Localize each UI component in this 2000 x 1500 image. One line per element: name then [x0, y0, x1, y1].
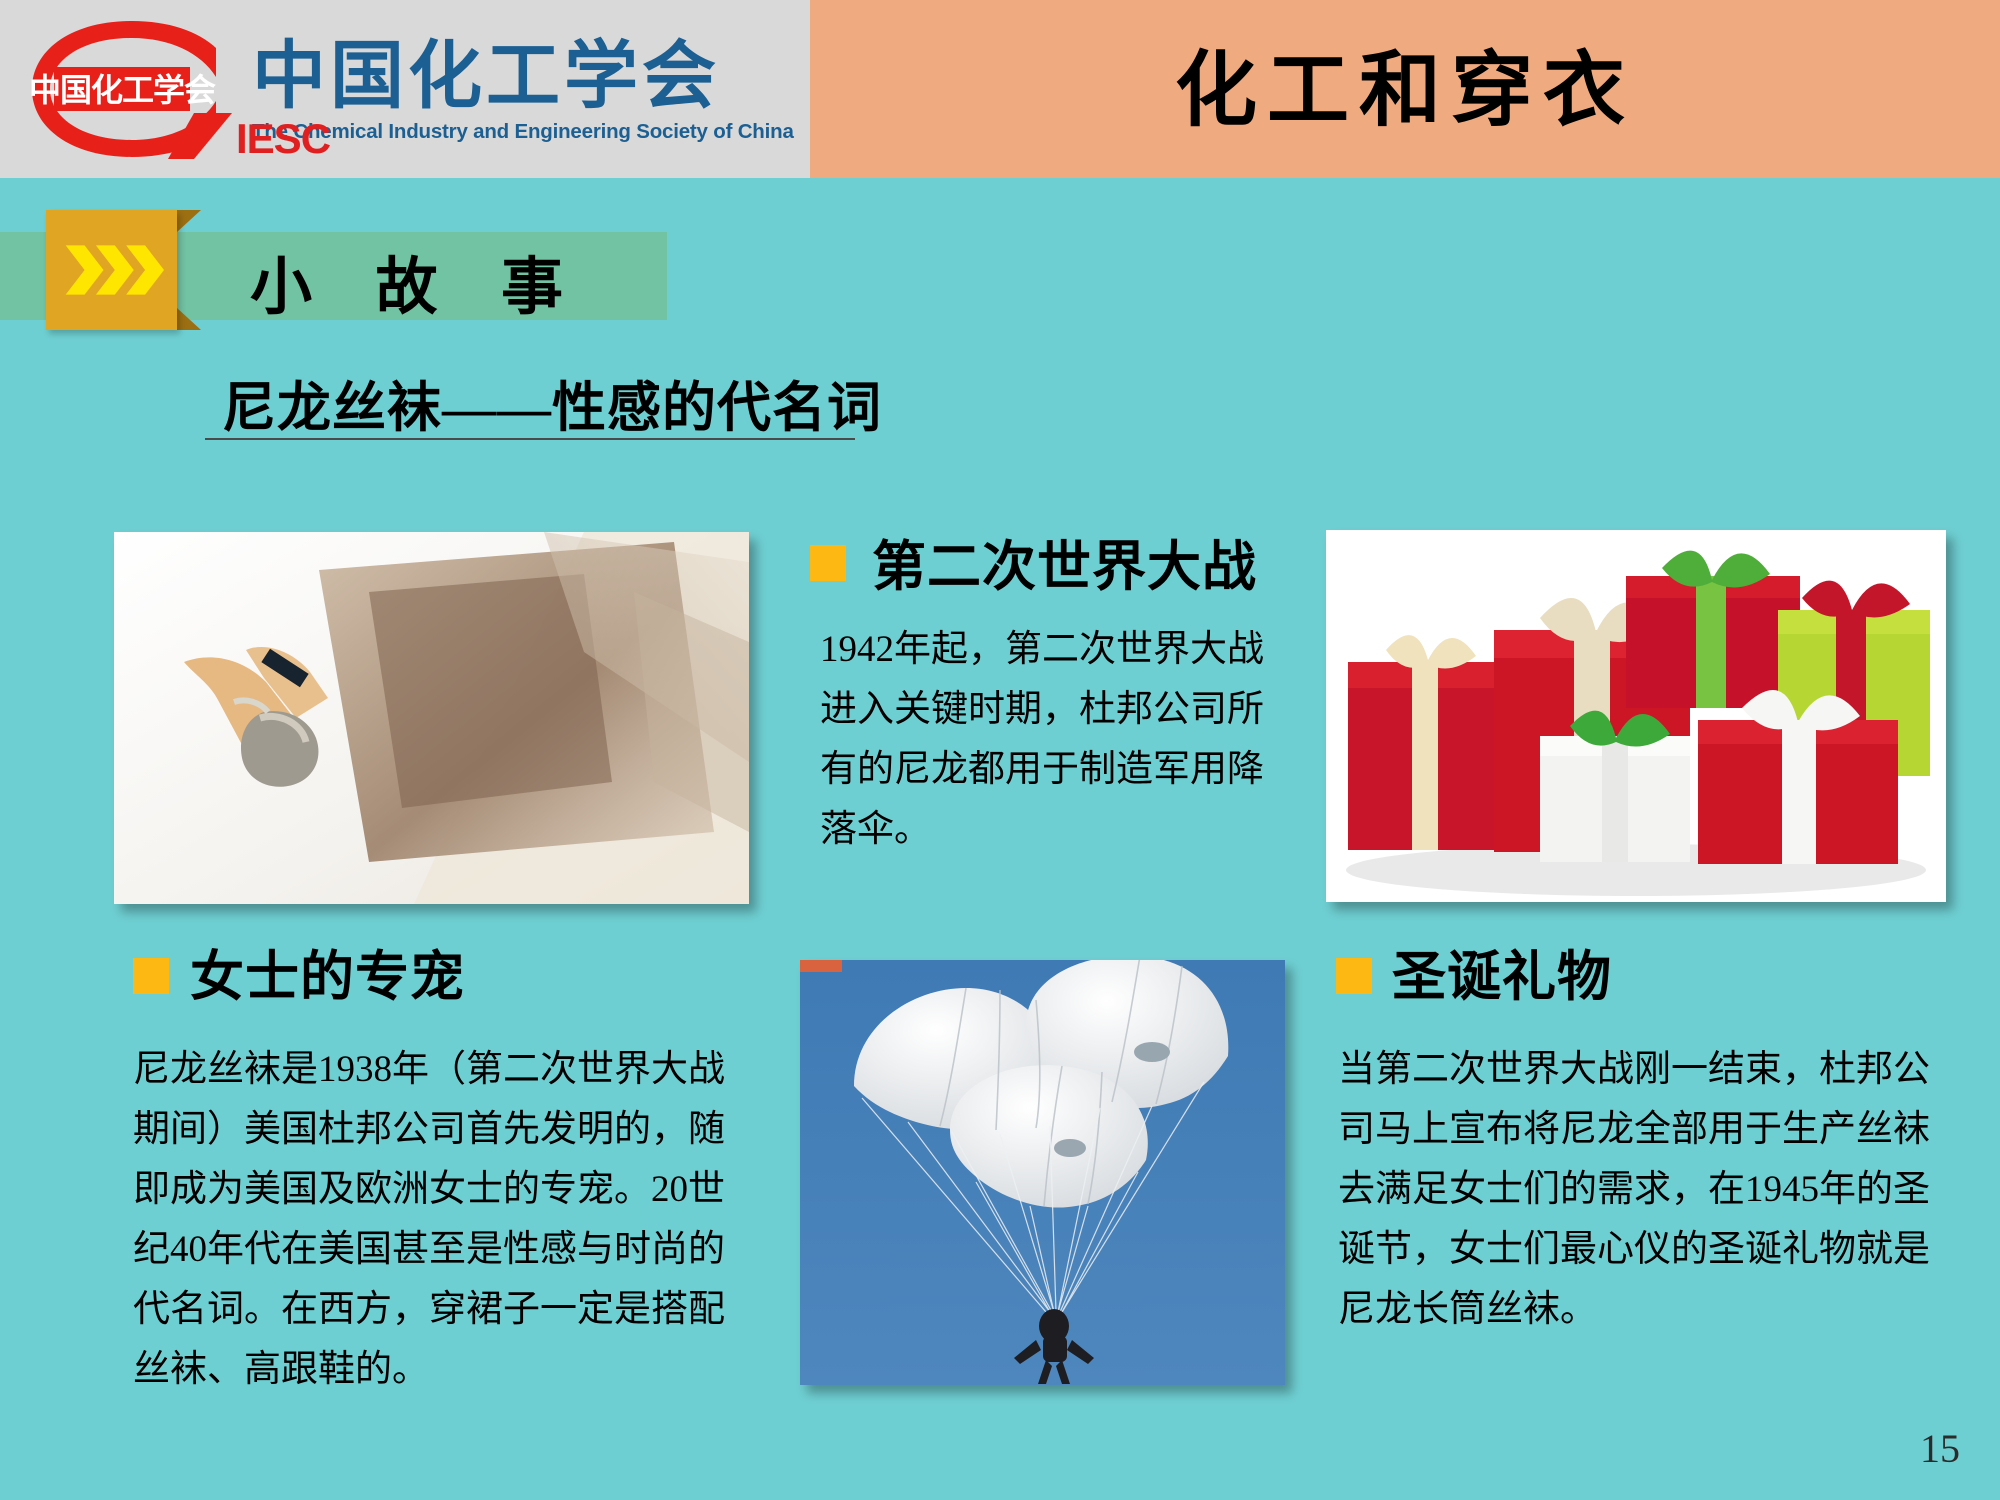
block-title-ladies-favorite: 女士的专宠	[190, 932, 465, 1011]
logo-english-name: The Chemical Industry and Engineering So…	[252, 120, 794, 144]
badge-fold-top	[177, 210, 201, 232]
parachute-photo	[800, 960, 1285, 1385]
logo-chinese-name: 中国化工学会	[252, 40, 794, 115]
bullet-square-christmas-gift	[1336, 958, 1372, 994]
page-number: 15	[1920, 1425, 1960, 1472]
slide-header: 中国化工学会 IESC 中国化工学会 The Chemical Industry…	[0, 0, 2000, 178]
block-body-wwii: 1942年起，第二次世界大战进入关键时期，杜邦公司所有的尼龙都用于制造军用降落伞…	[820, 620, 1270, 860]
story-headline: 尼龙丝袜——性感的代名词	[222, 363, 882, 442]
block-body-christmas-gift: 当第二次世界大战刚一结束，杜邦公司马上宣布将尼龙全部用于生产丝袜去满足女士们的需…	[1338, 1040, 1938, 1340]
block-title-wwii: 第二次世界大战	[872, 522, 1257, 601]
bullet-square-wwii	[810, 545, 846, 581]
gifts-photo	[1326, 530, 1946, 902]
society-logo-panel: 中国化工学会 IESC 中国化工学会 The Chemical Industry…	[0, 0, 810, 178]
slide-title: 化工和穿衣	[810, 0, 2000, 178]
logo-abbreviation: IESC	[236, 115, 330, 163]
section-heading-row: 小 故 事	[0, 210, 2000, 320]
section-label: 小 故 事	[250, 236, 587, 326]
block-title-christmas-gift: 圣诞礼物	[1392, 932, 1612, 1011]
block-body-ladies-favorite: 尼龙丝袜是1938年（第二次世界大战期间）美国杜邦公司首先发明的，随即成为美国及…	[133, 1040, 743, 1400]
svg-text:中国化工学会: 中国化工学会	[29, 72, 216, 108]
bullet-square-ladies-favorite	[133, 958, 169, 994]
story-headline-underline	[205, 438, 855, 440]
logo-text-group: 中国化工学会 The Chemical Industry and Enginee…	[252, 34, 794, 143]
stockings-photo	[114, 532, 749, 904]
cisc-c-ring-logo-icon: 中国化工学会 IESC	[18, 9, 248, 169]
badge-fold-bottom	[177, 308, 201, 330]
triple-chevron-icon	[46, 210, 177, 330]
